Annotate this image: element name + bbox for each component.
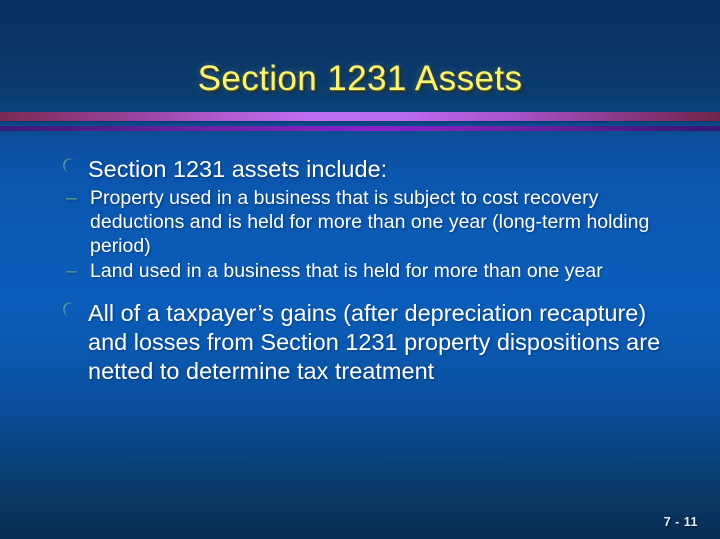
en-dash-icon: – [66, 186, 77, 210]
slide-body: Section 1231 assets include: – Property … [56, 155, 682, 388]
bullet-level1: All of a taxpayer’s gains (after depreci… [56, 299, 682, 386]
en-dash-icon: – [66, 259, 77, 283]
presentation-slide: Section 1231 Assets Section 1231 assets … [0, 0, 720, 539]
crescent-bullet-icon [61, 156, 77, 178]
bullet-level2-text: Property used in a business that is subj… [90, 187, 649, 257]
bullet-level1-text: All of a taxpayer’s gains (after depreci… [88, 300, 660, 384]
bullet-level2: – Property used in a business that is su… [56, 186, 682, 258]
page-title: Section 1231 Assets [198, 59, 523, 99]
sub-bullet-list: – Property used in a business that is su… [56, 186, 682, 283]
divider-line-purple [0, 126, 720, 131]
bullet-level1: Section 1231 assets include: [56, 155, 682, 184]
bullet-level2-text: Land used in a business that is held for… [90, 260, 603, 282]
crescent-bullet-icon [61, 300, 77, 322]
title-area: Section 1231 Assets [0, 36, 720, 123]
divider-bar-violet [0, 112, 720, 121]
bullet-level2: – Land used in a business that is held f… [56, 259, 682, 283]
page-number: 7 - 11 [664, 515, 698, 529]
spacer [56, 289, 682, 299]
bullet-level1-text: Section 1231 assets include: [88, 156, 387, 182]
